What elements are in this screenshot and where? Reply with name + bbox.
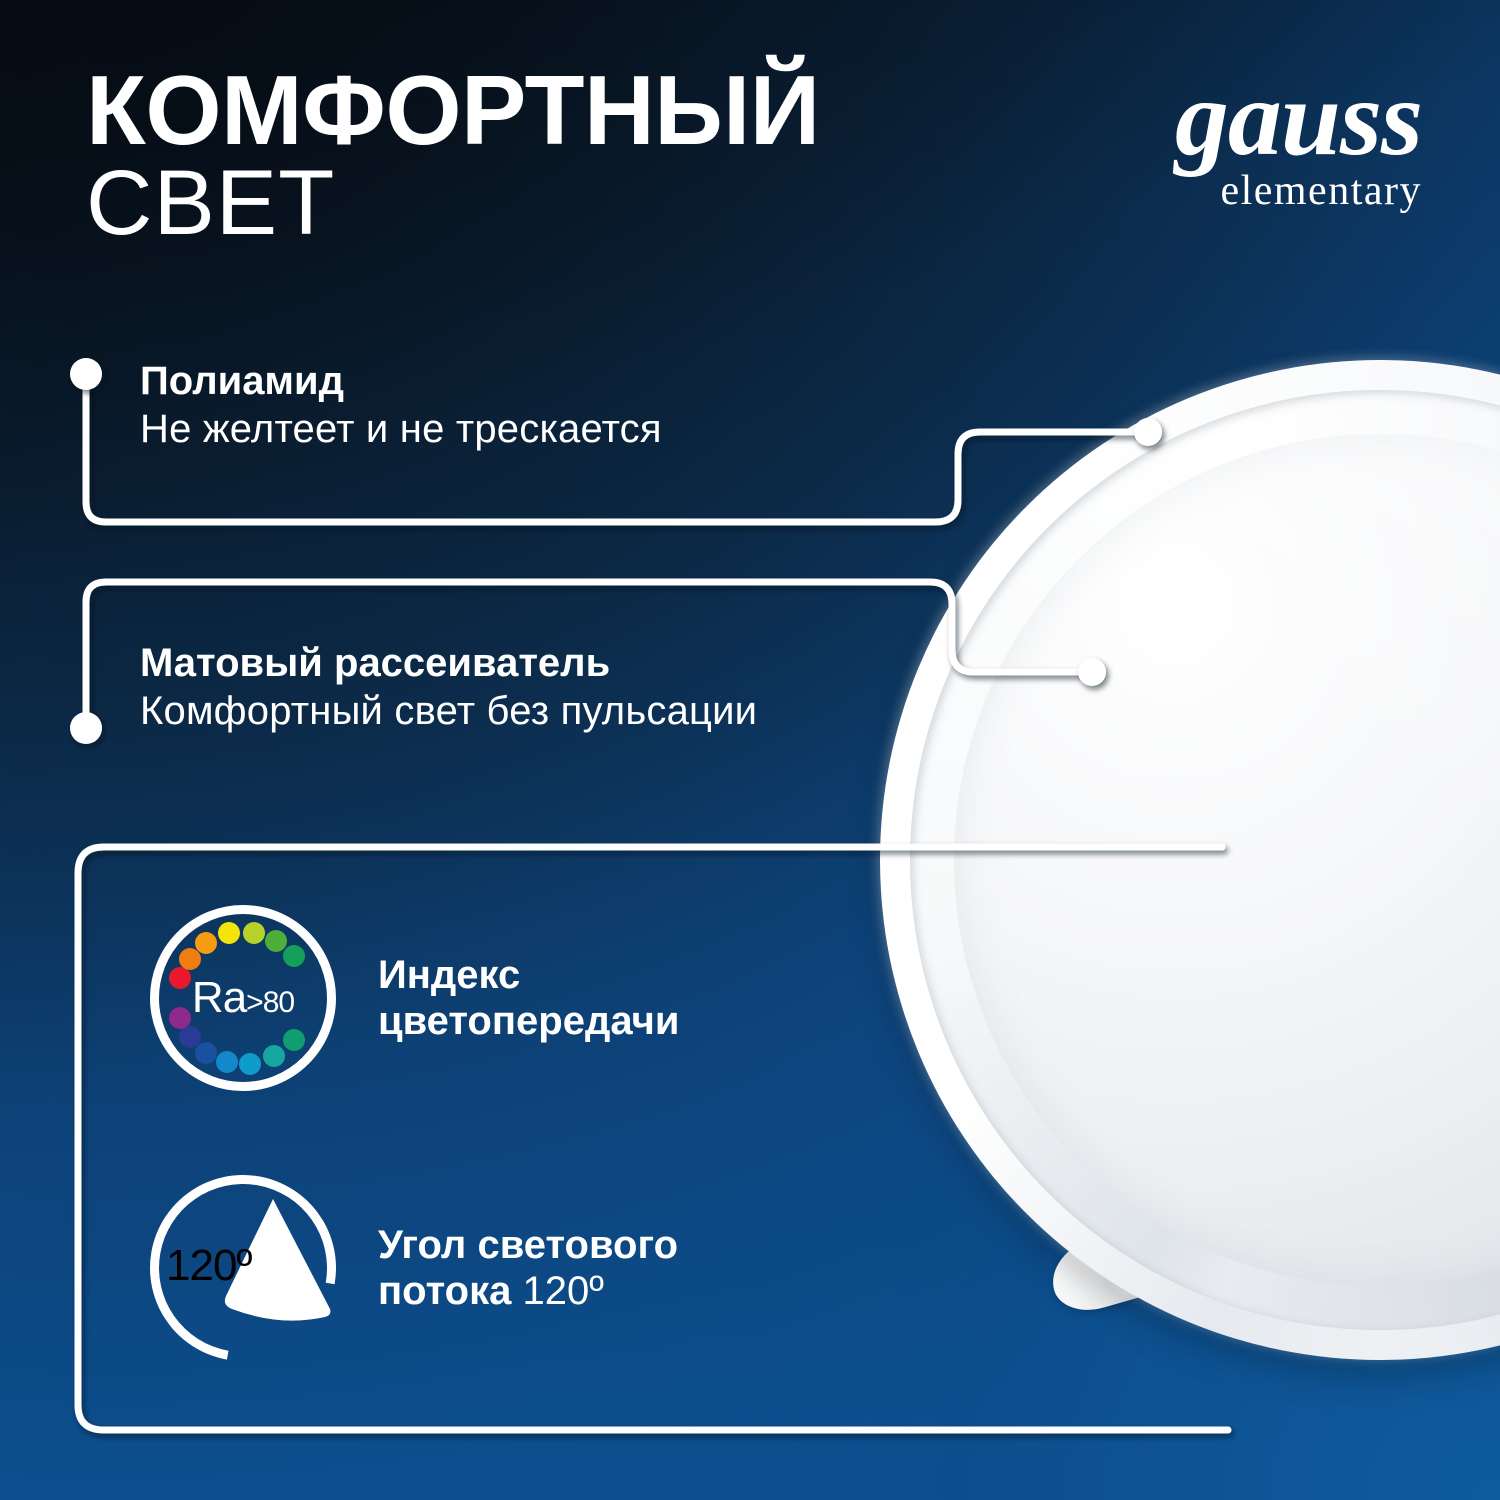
cri-icon-center: Ra>80 — [150, 905, 336, 1091]
title-line-2: СВЕТ — [86, 158, 820, 248]
callout-diffuser-body: Комфортный свет без пульсации — [140, 687, 757, 735]
cri-icon-label: Ra>80 — [192, 973, 294, 1023]
logo-wordmark: gauss — [1042, 74, 1422, 165]
feature-cri-label-line2: цветопередачи — [378, 999, 679, 1043]
callout-polyamide-heading: Полиамид — [140, 358, 662, 405]
callout-diffuser: Матовый рассеиватель Комфортный свет без… — [140, 640, 757, 735]
feature-beam-angle-label: Угол светового потока 120º — [378, 1222, 678, 1315]
title-line-1: КОМФОРТНЫЙ — [86, 62, 820, 158]
cri-icon: Ra>80 — [150, 905, 336, 1091]
feature-beam-angle-line2-bold: потока — [378, 1269, 522, 1313]
poster-canvas: КОМФОРТНЫЙ СВЕТ gauss elementary Полиами… — [0, 0, 1500, 1500]
product-image-round-led-downlight — [880, 360, 1500, 1370]
feature-cri-label: Индекс цветопередачи — [378, 952, 679, 1045]
callout-polyamide: Полиамид Не желтеет и не трескается — [140, 358, 662, 453]
beam-angle-icon: 120º — [150, 1175, 336, 1361]
beam-angle-icon-label: 120º — [166, 1241, 251, 1291]
feature-beam-angle-line2-thin: 120º — [522, 1269, 603, 1313]
feature-beam-angle-line1: Угол светового — [378, 1223, 678, 1267]
feature-color-rendering-index: Ra>80 Индекс цветопередачи — [150, 905, 679, 1091]
feature-beam-angle: 120º Угол светового потока 120º — [150, 1175, 678, 1361]
page-title: КОМФОРТНЫЙ СВЕТ — [86, 62, 820, 248]
brand-logo: gauss elementary — [1042, 74, 1422, 215]
logo-tagline: elementary — [1042, 167, 1422, 215]
feature-cri-label-line1: Индекс — [378, 953, 520, 997]
callout-polyamide-body: Не желтеет и не трескается — [140, 405, 662, 453]
callout-diffuser-heading: Матовый рассеиватель — [140, 640, 757, 687]
